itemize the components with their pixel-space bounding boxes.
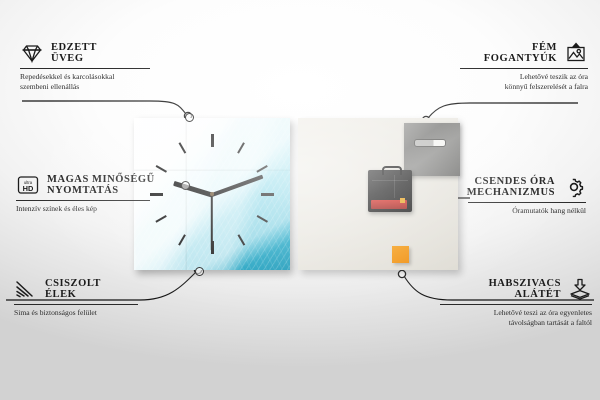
foam-pad-icon	[568, 278, 592, 300]
feature-title-line2: MECHANIZMUS	[467, 187, 555, 198]
feature-divider	[440, 304, 592, 305]
feature-title-line1: CSENDES ÓRA	[467, 176, 555, 187]
feature-desc-line2: távolságban tartását a faltól	[440, 318, 592, 328]
feature-title-line1: MAGAS MINŐSÉGŰ	[47, 174, 155, 185]
feature-desc-line1: Óramutatók hang nélkül	[467, 206, 586, 216]
feature-title-line1: CSISZOLT	[45, 278, 101, 289]
product-front-clock	[134, 118, 290, 270]
feature-desc-line1: Repedésekkel és karcolásokkal	[20, 72, 150, 82]
feature-title-line2: FOGANTYÚK	[484, 53, 557, 64]
feature-divider	[20, 68, 150, 69]
feature-desc-line1: Sima és biztonságos felület	[14, 308, 138, 318]
wire-tempered-glass	[22, 101, 186, 114]
feature-desc-line2: szembeni ellenállás	[20, 82, 150, 92]
infographic-canvas: EDZETT ÜVEG Repedésekkel és karcolásokka…	[0, 0, 600, 400]
picture-hanger-icon	[564, 42, 588, 64]
wire-metal-handles	[428, 103, 578, 118]
polished-edges-icon	[14, 278, 38, 300]
feature-title-line2: ALÁTÉT	[489, 289, 561, 300]
clock-marker-3	[261, 193, 274, 196]
mechanism-loop	[382, 166, 402, 175]
clock-center-pin	[210, 192, 214, 196]
feature-desc-line2: könnyű felszerelését a falra	[460, 82, 588, 92]
clock-corner-screw-bottom	[195, 267, 204, 276]
feature-high-quality-print[interactable]: ultra HD MAGAS MINŐSÉGŰ NYOMTATÁS Intenz…	[16, 174, 155, 214]
feature-desc-line1: Lehetővé teszik az óra	[460, 72, 588, 82]
foam-pad-part	[392, 246, 409, 263]
feature-divider	[468, 202, 586, 203]
feature-tempered-glass[interactable]: EDZETT ÜVEG Repedésekkel és karcolásokka…	[20, 42, 150, 93]
hanger-slot	[414, 139, 446, 147]
metal-hanger-part	[404, 123, 460, 176]
feature-title-line2: ÜVEG	[51, 53, 97, 64]
ultra-hd-icon: ultra HD	[16, 174, 40, 196]
feature-desc-line1: Lehetővé teszi az óra egyenletes	[440, 308, 592, 318]
feature-polished-edges[interactable]: CSISZOLT ÉLEK Sima és biztonságos felüle…	[14, 278, 138, 318]
gear-icon	[562, 176, 586, 198]
feature-title-line1: EDZETT	[51, 42, 97, 53]
clock-corner-screw-top	[185, 113, 194, 122]
mechanism-seam	[372, 180, 408, 181]
feature-metal-handles[interactable]: FÉM FOGANTYÚK Lehetővé teszik az óra kön…	[460, 42, 588, 93]
clock-mechanism-part	[368, 170, 412, 212]
feature-divider	[16, 200, 150, 201]
clock-corner-screw-left	[181, 181, 190, 190]
feature-divider	[14, 304, 138, 305]
mechanism-seam-vertical	[394, 175, 395, 198]
svg-text:HD: HD	[23, 184, 34, 193]
feature-title-line2: NYOMTATÁS	[47, 185, 155, 196]
feature-title-line1: HABSZIVACS	[489, 278, 561, 289]
clock-second-hand	[211, 194, 213, 250]
feature-foam-pad[interactable]: HABSZIVACS ALÁTÉT Lehetővé teszi az óra …	[440, 278, 592, 329]
clock-marker-12	[211, 134, 214, 147]
wire-dot-foam-pad	[398, 270, 405, 277]
feature-title-line2: ÉLEK	[45, 289, 101, 300]
diamond-icon	[20, 42, 44, 64]
feature-desc-line1: Intenzív színek és éles kép	[16, 204, 155, 214]
feature-quiet-mechanism[interactable]: CSENDES ÓRA MECHANIZMUS Óramutatók hang …	[467, 176, 586, 216]
feature-title-line1: FÉM	[484, 42, 557, 53]
mechanism-battery	[371, 200, 407, 209]
feature-divider	[460, 68, 588, 69]
